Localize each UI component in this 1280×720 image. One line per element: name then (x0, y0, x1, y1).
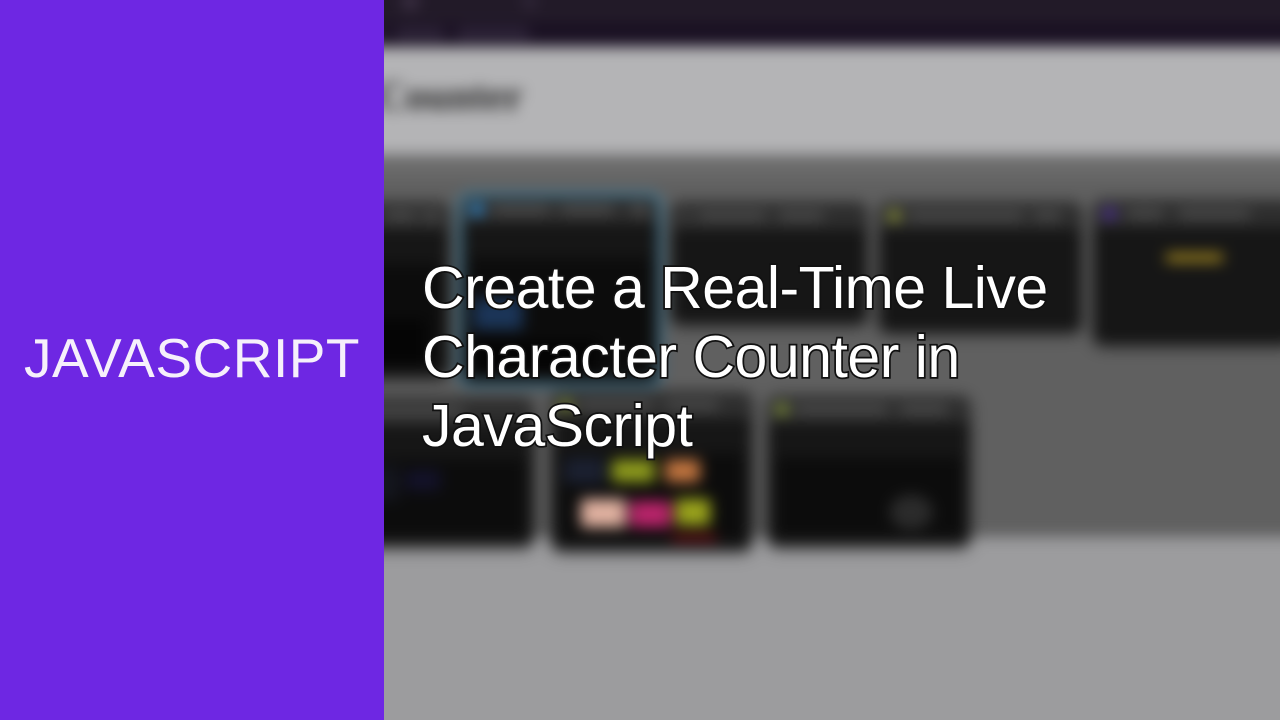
card-meta-bar (1034, 212, 1061, 219)
thumb-blob (630, 501, 671, 528)
card-title-bar (908, 212, 1023, 219)
thumb-blob (384, 466, 399, 501)
card-badge-icon (470, 203, 483, 216)
app-subbar (384, 22, 1280, 47)
deck-top-strip (384, 155, 1280, 178)
page-surface: aracter Counter (384, 47, 1280, 155)
card-header (384, 202, 449, 229)
category-label: JAVASCRIPT (0, 331, 384, 386)
thumb-blob (665, 460, 700, 483)
card-title-bar (492, 206, 550, 213)
thumb-blob (581, 499, 626, 528)
app-topbar (384, 0, 1280, 22)
card-header (461, 196, 659, 223)
card-header (671, 202, 867, 229)
card-meta-bar (778, 212, 823, 219)
card-title-bar (1127, 210, 1164, 217)
card-header (879, 202, 1081, 229)
thumb-blob (612, 460, 655, 483)
subbar-chip (395, 27, 444, 40)
card-badge-icon (680, 210, 691, 221)
card-thumbnail (776, 457, 961, 535)
thumb-blob (384, 319, 426, 366)
topbar-action-icon (523, 0, 536, 8)
card-menu-icon (632, 204, 646, 215)
card-badge-icon (889, 210, 900, 221)
thumb-blob (890, 495, 933, 530)
card-header (1094, 200, 1280, 227)
category-panel: JAVASCRIPT (0, 0, 384, 720)
card-badge-icon (1103, 207, 1116, 220)
thumb-blob (406, 470, 441, 491)
card-meta-bar (1178, 210, 1250, 217)
card-meta-bar (385, 212, 416, 219)
card-menu-icon (424, 210, 438, 221)
overlay-title: Create a Real-Time Live Character Counte… (422, 254, 1222, 461)
thumbnail-canvas: aracter Counter (0, 0, 1280, 720)
subbar-chip (457, 27, 529, 40)
page-heading: aracter Counter (384, 71, 523, 119)
thumb-blob (671, 536, 716, 540)
card-thumbnail (560, 453, 743, 540)
card-thumbnail (384, 460, 525, 536)
card-title-bar (698, 212, 766, 219)
thumb-blob (675, 499, 710, 526)
thumb-blob (564, 457, 605, 484)
topbar-avatar-icon (401, 0, 419, 10)
card-meta-bar (560, 206, 614, 213)
